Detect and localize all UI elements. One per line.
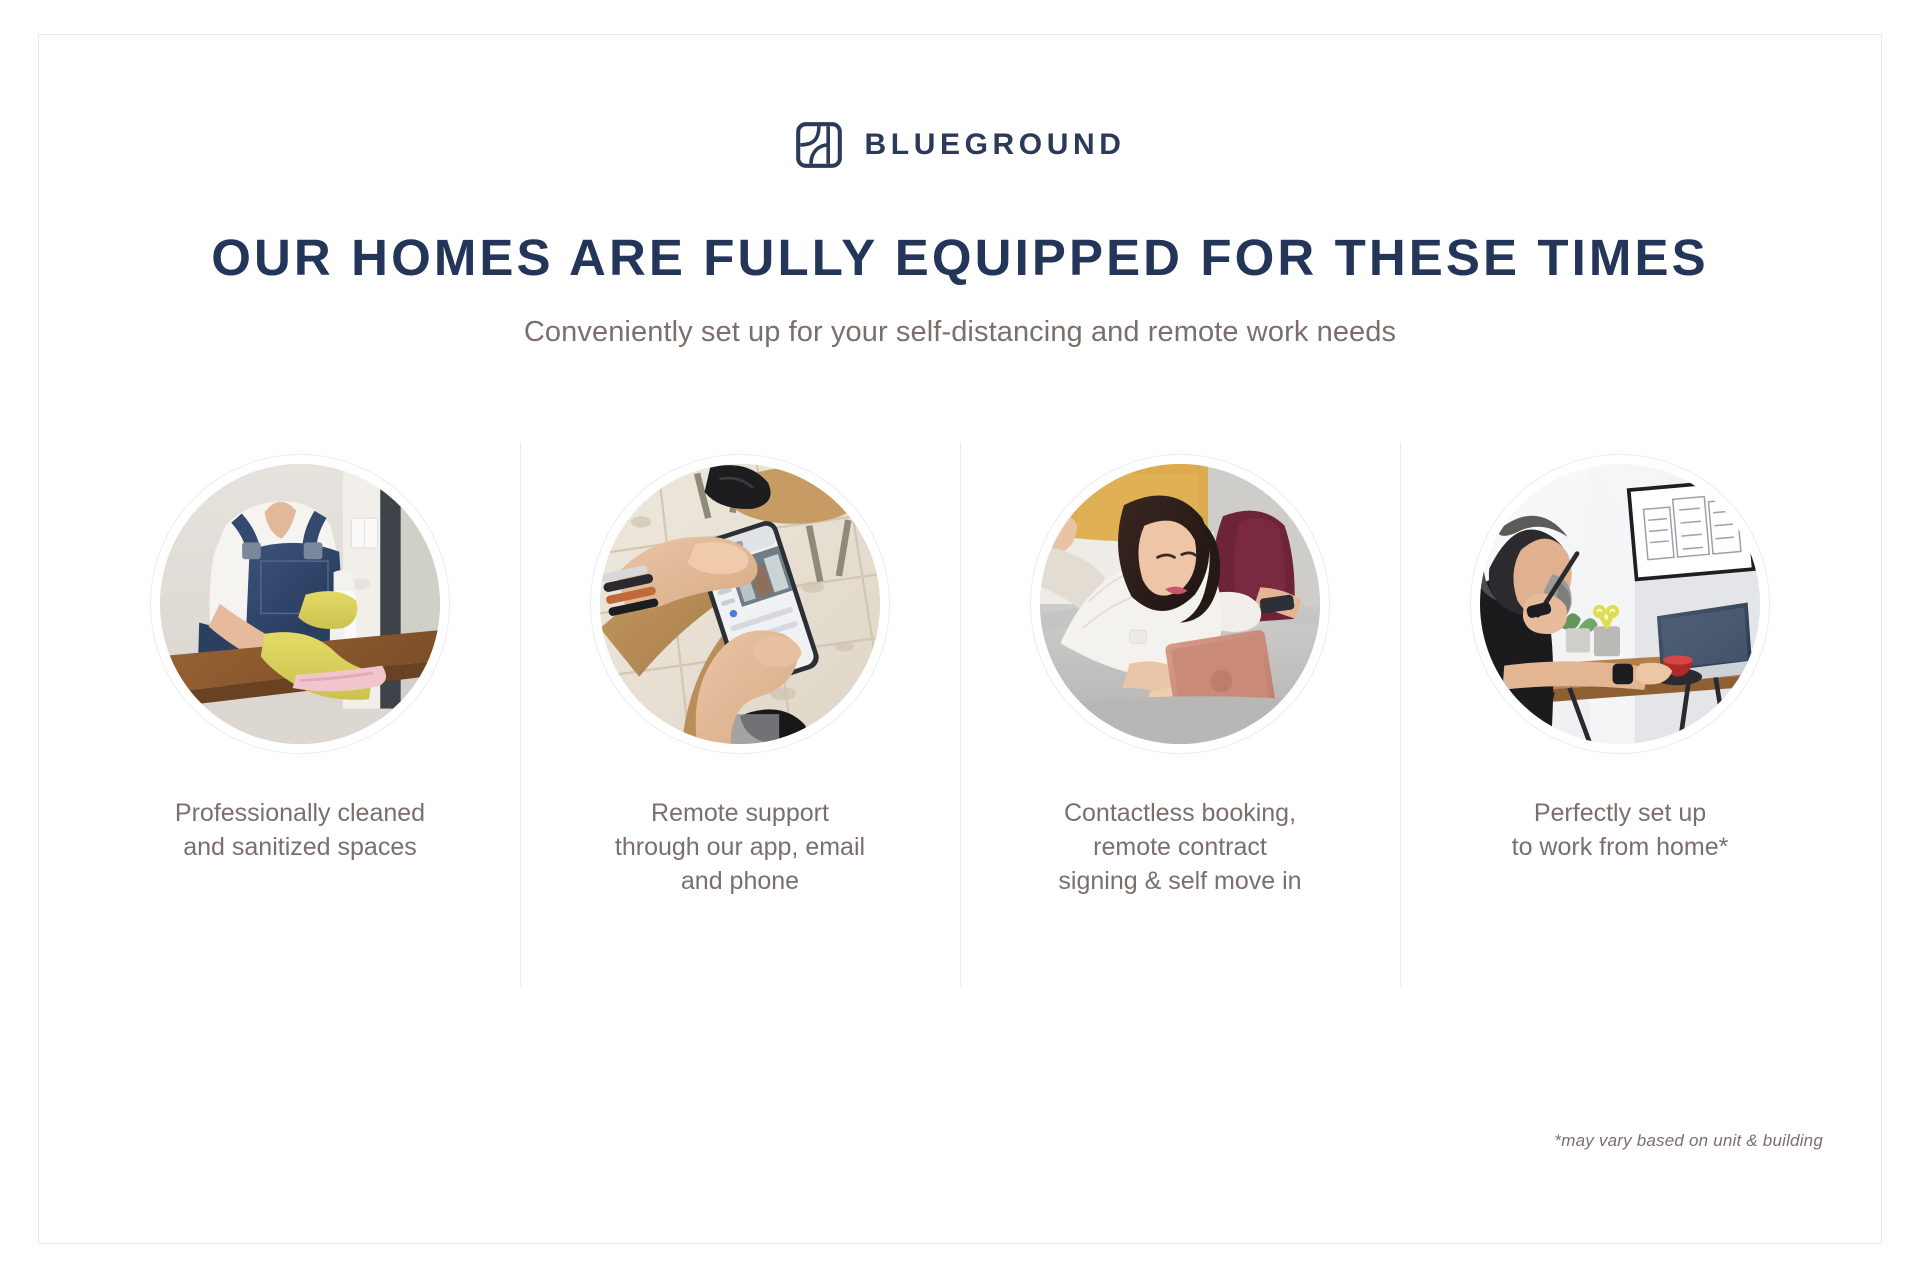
blueground-square-logo-icon: [795, 121, 843, 169]
brand-wordmark: BLUEGROUND: [865, 130, 1126, 160]
page-title: OUR HOMES ARE FULLY EQUIPPED FOR THESE T…: [211, 231, 1709, 285]
feature-caption: Remote support through our app, email an…: [615, 796, 865, 898]
feature-caption: Perfectly set up to work from home*: [1512, 796, 1729, 864]
feature-caption: Professionally cleaned and sanitized spa…: [175, 796, 425, 864]
footnote-disclaimer: *may vary based on unit & building: [1554, 1131, 1823, 1151]
page-subtitle: Conveniently set up for your self-distan…: [524, 315, 1396, 350]
feature-column-work-from-home: Perfectly set up to work from home*: [1400, 442, 1840, 987]
poster-canvas: BLUEGROUND OUR HOMES ARE FULLY EQUIPPED …: [0, 0, 1920, 1280]
feature-column-cleaning: Professionally cleaned and sanitized spa…: [80, 442, 520, 987]
photo-frame: [150, 454, 450, 754]
feature-caption: Contactless booking, remote contract sig…: [1058, 796, 1301, 898]
brand-lockup: BLUEGROUND: [795, 121, 1126, 169]
feature-column-contactless-booking: Contactless booking, remote contract sig…: [960, 442, 1400, 987]
photo-cleaning: [160, 464, 440, 744]
photo-frame: [590, 454, 890, 754]
photo-frame: [1470, 454, 1770, 754]
photo-work-from-home: [1480, 464, 1760, 744]
poster-frame: BLUEGROUND OUR HOMES ARE FULLY EQUIPPED …: [38, 34, 1882, 1244]
feature-columns: Professionally cleaned and sanitized spa…: [80, 442, 1840, 987]
photo-remote-support: [600, 464, 880, 744]
photo-contactless-booking: [1040, 464, 1320, 744]
photo-frame: [1030, 454, 1330, 754]
feature-column-remote-support: Remote support through our app, email an…: [520, 442, 960, 987]
